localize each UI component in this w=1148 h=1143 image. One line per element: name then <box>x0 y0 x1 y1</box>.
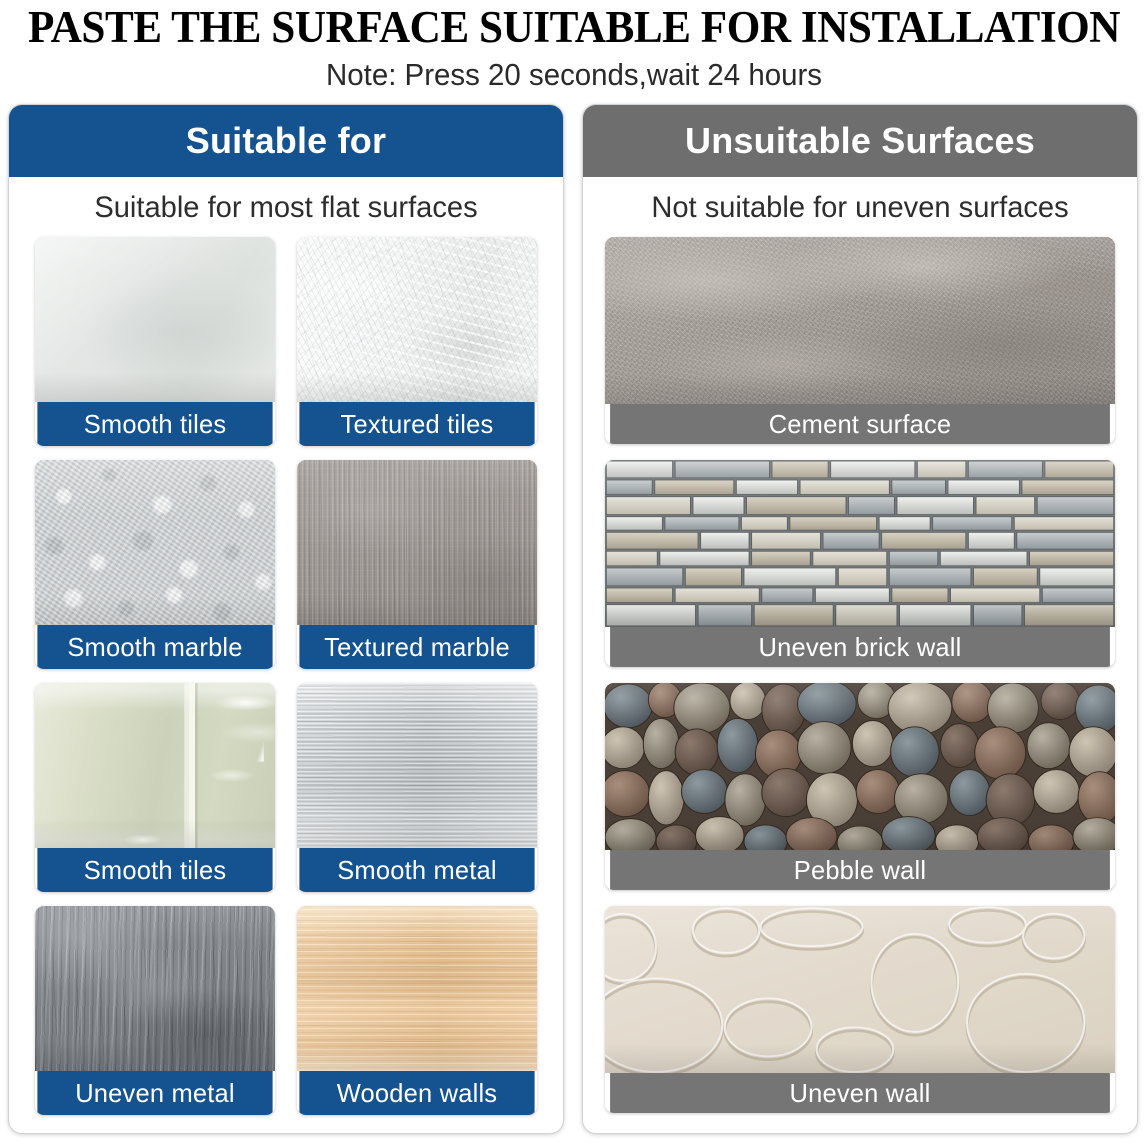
uneven-wall-illustration <box>605 906 1115 1073</box>
surface-label: Textured tiles <box>299 402 534 446</box>
note-text: Note: Press 20 seconds,wait 24 hours <box>29 56 1120 94</box>
image-overlay <box>35 237 275 402</box>
surface-image-uneven-metal <box>35 906 275 1071</box>
image-overlay <box>35 906 275 1071</box>
surface-image-brick <box>605 460 1115 627</box>
panel-unsuitable-subtitle: Not suitable for uneven surfaces <box>591 177 1128 237</box>
surface-card-cement-surface[interactable]: Cement surface <box>605 237 1115 444</box>
surface-image-cement <box>605 237 1115 404</box>
image-overlay <box>35 460 275 625</box>
surface-label: Wooden walls <box>299 1071 534 1115</box>
panel-suitable-subtitle: Suitable for most flat surfaces <box>17 177 554 237</box>
brick-wall-illustration <box>605 460 1115 627</box>
surface-image-textured-tiles <box>297 237 537 402</box>
surface-image-relief <box>605 906 1115 1073</box>
surface-label: Smooth marble <box>37 625 272 669</box>
surface-image-smooth-marble <box>35 460 275 625</box>
image-overlay <box>297 906 537 1071</box>
surface-label: Uneven wall <box>610 1073 1110 1113</box>
surface-card-uneven-brick-wall[interactable]: Uneven brick wall <box>605 460 1115 667</box>
image-overlay <box>297 460 537 625</box>
pebble-wall-illustration <box>605 683 1115 850</box>
image-overlay <box>297 683 537 848</box>
surface-image-textured-marble <box>297 460 537 625</box>
image-overlay <box>35 683 275 848</box>
surface-label: Smooth tiles <box>37 402 272 446</box>
surface-label: Smooth metal <box>299 848 534 892</box>
surface-label: Pebble wall <box>610 850 1110 890</box>
surface-card-smooth-glass-tiles[interactable]: Smooth tiles <box>35 683 275 892</box>
surface-image-smooth-metal <box>297 683 537 848</box>
surface-card-pebble-wall[interactable]: Pebble wall <box>605 683 1115 890</box>
surface-image-wood <box>297 906 537 1071</box>
header: PASTE THE SURFACE SUITABLE FOR INSTALLAT… <box>0 0 1148 94</box>
surface-label: Cement surface <box>610 404 1110 444</box>
surface-image-smooth-tiles <box>35 237 275 402</box>
surface-card-uneven-wall[interactable]: Uneven wall <box>605 906 1115 1113</box>
surface-card-textured-marble[interactable]: Textured marble <box>297 460 537 669</box>
image-overlay <box>297 237 537 402</box>
panel-suitable: Suitable for Suitable for most flat surf… <box>8 104 564 1134</box>
suitable-surface-grid: Smooth tiles Textured tiles Smooth marbl… <box>9 237 563 1133</box>
surface-card-textured-tiles[interactable]: Textured tiles <box>297 237 537 446</box>
panel-unsuitable-header: Unsuitable Surfaces <box>583 105 1137 177</box>
panel-suitable-header: Suitable for <box>9 105 563 177</box>
surface-card-smooth-tiles[interactable]: Smooth tiles <box>35 237 275 446</box>
surface-label: Smooth tiles <box>37 848 272 892</box>
panel-unsuitable: Unsuitable Surfaces Not suitable for une… <box>582 104 1138 1134</box>
comparison-panels: Suitable for Suitable for most flat surf… <box>0 104 1148 1134</box>
unsuitable-surface-list: Cement surface <box>583 237 1137 1133</box>
page-title: PASTE THE SURFACE SUITABLE FOR INSTALLAT… <box>23 2 1125 52</box>
image-overlay <box>605 237 1115 404</box>
surface-label: Textured marble <box>299 625 534 669</box>
surface-card-smooth-marble[interactable]: Smooth marble <box>35 460 275 669</box>
surface-label: Uneven brick wall <box>610 627 1110 667</box>
surface-label: Uneven metal <box>37 1071 272 1115</box>
surface-image-pebble <box>605 683 1115 850</box>
surface-card-uneven-metal[interactable]: Uneven metal <box>35 906 275 1115</box>
surface-card-smooth-metal[interactable]: Smooth metal <box>297 683 537 892</box>
surface-card-wooden-walls[interactable]: Wooden walls <box>297 906 537 1115</box>
surface-image-glass <box>35 683 275 848</box>
